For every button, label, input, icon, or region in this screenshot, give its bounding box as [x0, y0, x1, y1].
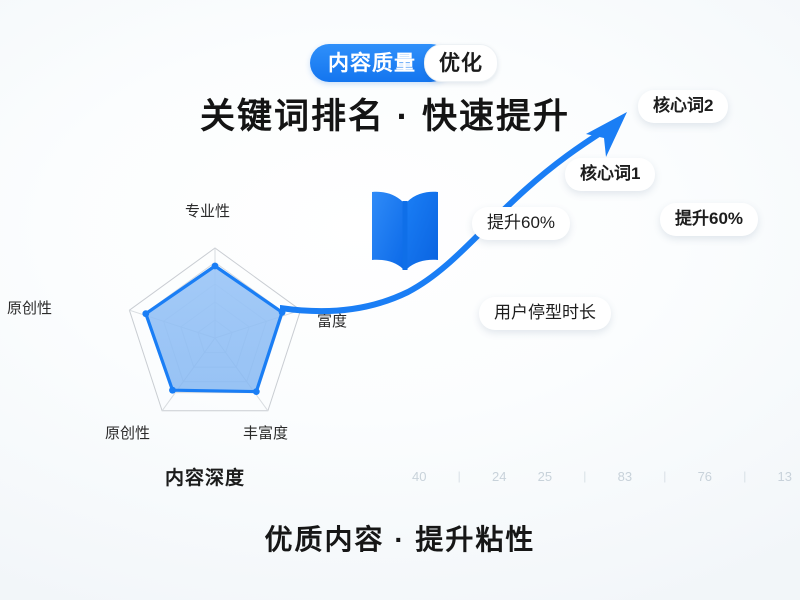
open-book-icon [368, 186, 442, 274]
radar-axis-label-3: 原创性 [105, 422, 150, 443]
poster-canvas: 内容质量 优化 关键词排名 · 快速提升 [0, 0, 800, 600]
tick-number-2: 25 [538, 469, 552, 484]
tick-number-3: 83 [618, 469, 632, 484]
badge-chip-label: 优化 [439, 53, 483, 74]
tick-number-4: 76 [698, 469, 712, 484]
callout-dwell-time[interactable]: 用户停型时长 [479, 297, 611, 330]
tick-number-0: 40 [412, 469, 426, 484]
callout-keyword-1[interactable]: 核心词1 [565, 158, 655, 191]
radar-axis-label-2: 丰富度 [243, 422, 288, 443]
tick-mark-2: | [663, 469, 666, 483]
badge-pill-label: 内容质量 [328, 53, 416, 74]
callout-keyword-2[interactable]: 核心词2 [638, 90, 728, 123]
footer-caption: 优质内容 · 提升粘性 [0, 518, 800, 558]
callout-lift-right[interactable]: 提升60% [660, 203, 758, 236]
arrow-head-icon [586, 112, 627, 157]
radar-data-polygon [146, 266, 282, 392]
tick-mark-3: | [743, 469, 746, 483]
badge-chip: 优化 [424, 44, 498, 82]
content-depth-label: 内容深度 [165, 463, 245, 490]
tick-number-1: 24 [492, 469, 506, 484]
callout-lift-left[interactable]: 提升60% [472, 207, 570, 240]
tick-mark-0: | [458, 469, 461, 483]
radar-axis-label-0: 专业性 [185, 200, 230, 221]
quality-badge: 内容质量 优化 [310, 44, 498, 82]
tick-number-5: 13 [778, 469, 792, 484]
radar-axis-label-4: 原创性 [7, 297, 52, 318]
tick-mark-1: | [583, 469, 586, 483]
faint-axis-ticks: 40 | 24 25 | 83 | 76 | 13 [412, 466, 792, 486]
